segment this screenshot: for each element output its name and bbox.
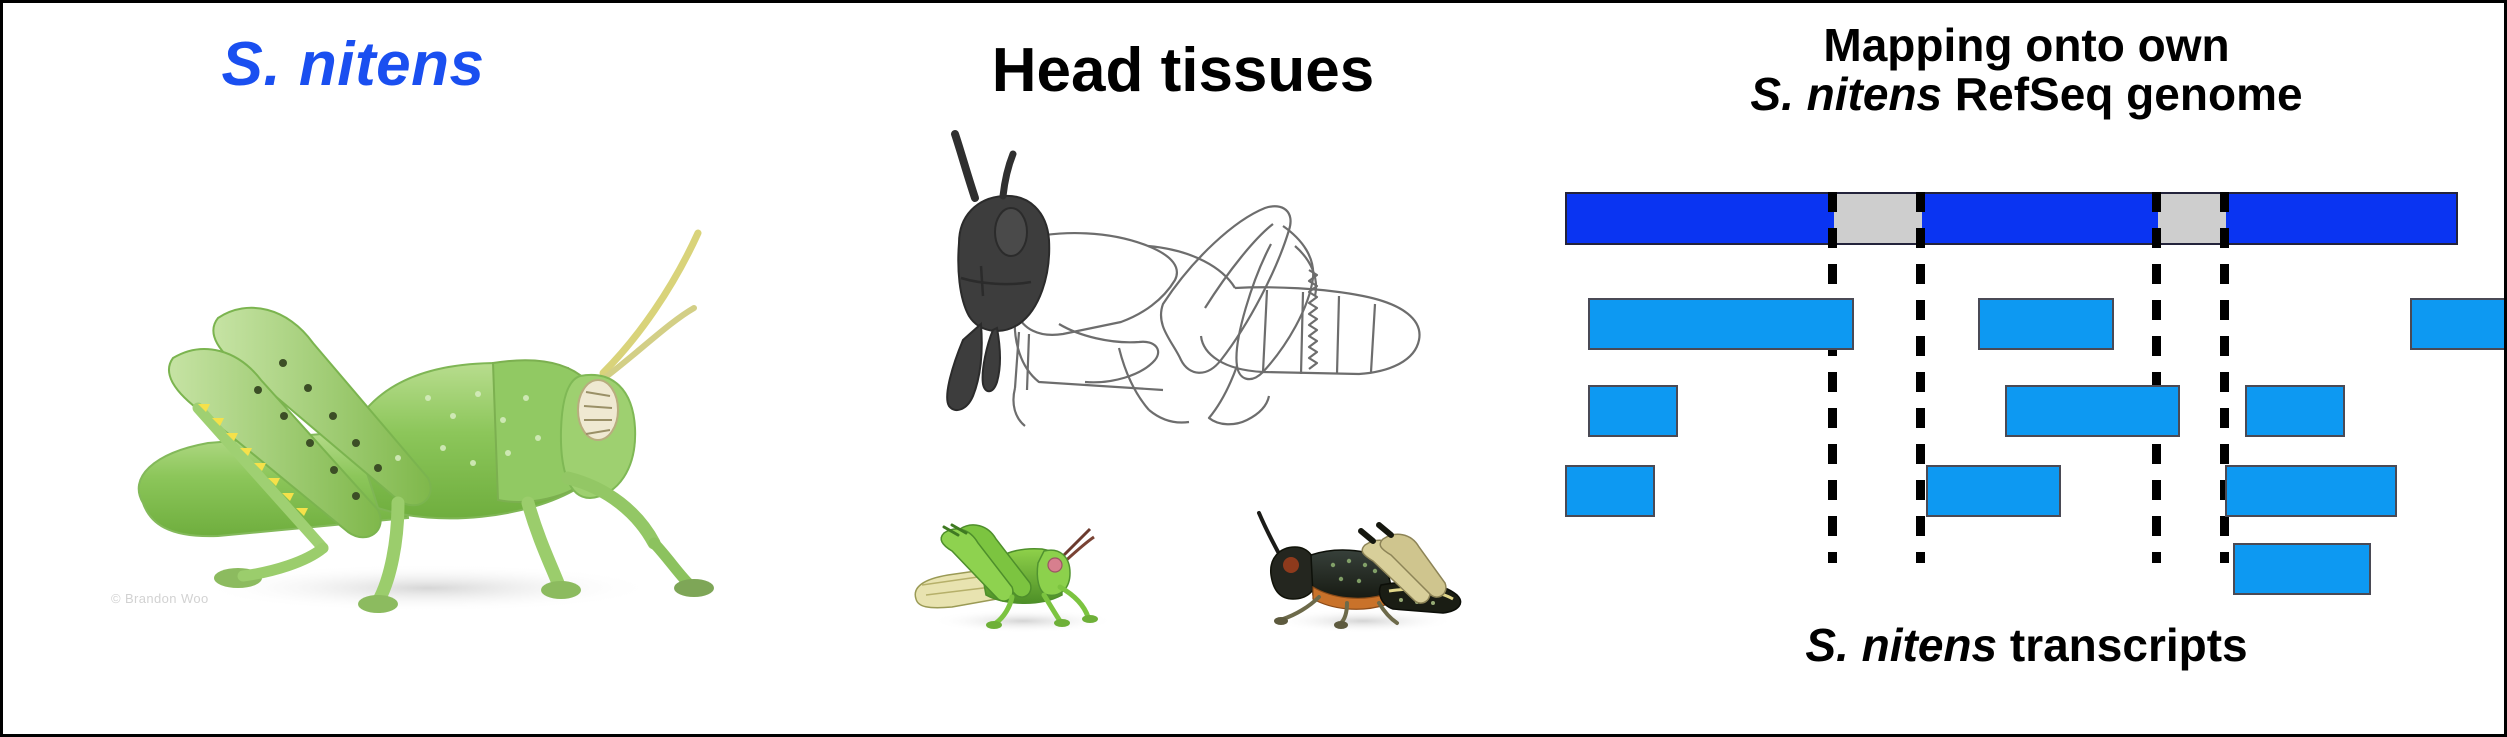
mapping-title-species: S. nitens bbox=[1750, 68, 1942, 120]
transcript-bar-r1-1 bbox=[1588, 298, 1854, 350]
boundary-3 bbox=[2152, 192, 2161, 563]
transcripts-caption-species: S. nitens bbox=[1805, 619, 1997, 671]
transcript-bar-r2-1 bbox=[1588, 385, 1678, 437]
boundary-1 bbox=[1828, 192, 1837, 563]
transcript-bar-r4-1 bbox=[2233, 543, 2371, 595]
transcripts-caption: S. nitens transcripts bbox=[1543, 618, 2507, 672]
panel-head-tissues: Head tissues bbox=[823, 3, 1543, 734]
boundary-2 bbox=[1916, 192, 1925, 563]
transcripts-caption-rest: transcripts bbox=[1997, 619, 2248, 671]
transcript-bar-r2-2 bbox=[2005, 385, 2180, 437]
mapping-title: Mapping onto own S. nitens RefSeq genome bbox=[1543, 21, 2507, 119]
species-title: S. nitens bbox=[3, 29, 703, 100]
panel-species: S. nitens bbox=[3, 3, 823, 734]
mapping-title-line1: Mapping onto own bbox=[1543, 21, 2507, 70]
small-grasshopper-photo-dark bbox=[1243, 503, 1473, 638]
photo-watermark: © Brandon Woo bbox=[111, 591, 209, 606]
figure-root: S. nitens bbox=[0, 0, 2507, 737]
transcript-bar-r3-1 bbox=[1565, 465, 1655, 517]
gap-1 bbox=[1834, 194, 1922, 243]
transcript-bar-r1-3 bbox=[2410, 298, 2507, 350]
genome-track bbox=[1565, 192, 2458, 245]
transcript-bar-r1-2 bbox=[1978, 298, 2114, 350]
panel-mapping: Mapping onto own S. nitens RefSeq genome… bbox=[1543, 3, 2507, 734]
grasshopper-line-drawing bbox=[863, 128, 1483, 433]
transcript-bar-r3-2 bbox=[1926, 465, 2061, 517]
grasshopper-photo bbox=[98, 158, 738, 628]
mapping-title-rest: RefSeq genome bbox=[1942, 68, 2302, 120]
mapping-title-line2: S. nitens RefSeq genome bbox=[1543, 70, 2507, 119]
transcript-bar-r3-3 bbox=[2225, 465, 2397, 517]
small-grasshopper-photo-green bbox=[908, 503, 1138, 638]
transcript-bar-r2-3 bbox=[2245, 385, 2345, 437]
gap-2 bbox=[2158, 194, 2226, 243]
head-tissues-title: Head tissues bbox=[823, 35, 1543, 106]
